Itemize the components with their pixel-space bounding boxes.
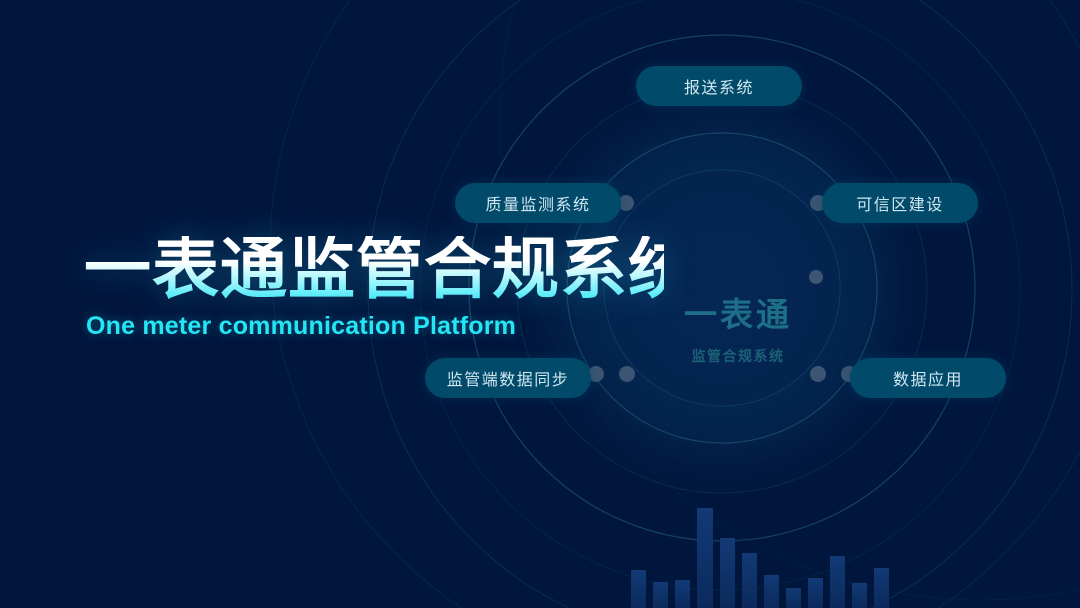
hub-title: 一表通 [663, 288, 813, 336]
pill-baosong-system[interactable]: 报送系统 [636, 66, 802, 106]
pill-data-application[interactable]: 数据应用 [850, 358, 1006, 398]
pill-trusted-zone-construction[interactable]: 可信区建设 [822, 183, 978, 223]
pill-regulator-data-sync[interactable]: 监管端数据同步 [425, 358, 591, 398]
page-subtitle: One meter communication Platform [86, 312, 664, 341]
hub-subtitle: 监管合规系统 [663, 346, 813, 366]
title-block: 一表通监管合规系统 One meter communication Platfo… [84, 236, 664, 341]
page-title: 一表通监管合规系统 [84, 236, 664, 304]
pill-quality-monitoring-system[interactable]: 质量监测系统 [455, 183, 621, 223]
decorative-bar-chart [631, 508, 889, 608]
hub-label: 一表通 监管合规系统 [663, 288, 813, 366]
presentation-slide: 一表通监管合规系统 One meter communication Platfo… [0, 0, 1080, 608]
